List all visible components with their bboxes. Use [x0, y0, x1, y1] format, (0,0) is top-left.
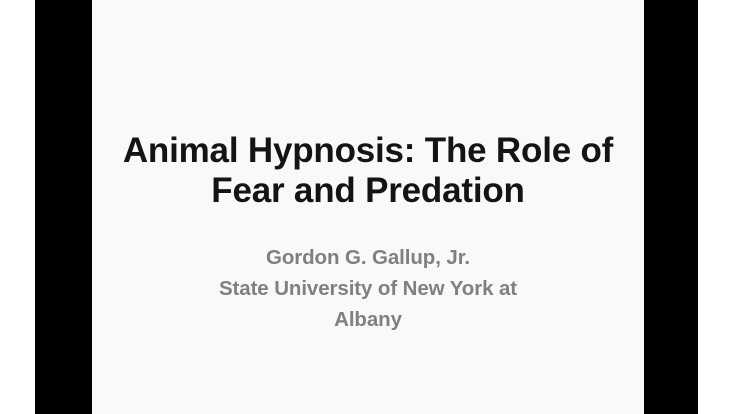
pillarbox-left	[35, 0, 92, 414]
slide-subtitle: Gordon G. Gallup, Jr. State University o…	[92, 242, 644, 335]
slide-viewer: Animal Hypnosis: The Role of Fear and Pr…	[0, 0, 736, 414]
presentation-slide: Animal Hypnosis: The Role of Fear and Pr…	[92, 0, 644, 414]
slide-title: Animal Hypnosis: The Role of Fear and Pr…	[92, 131, 644, 211]
pillarbox-right	[644, 0, 698, 414]
